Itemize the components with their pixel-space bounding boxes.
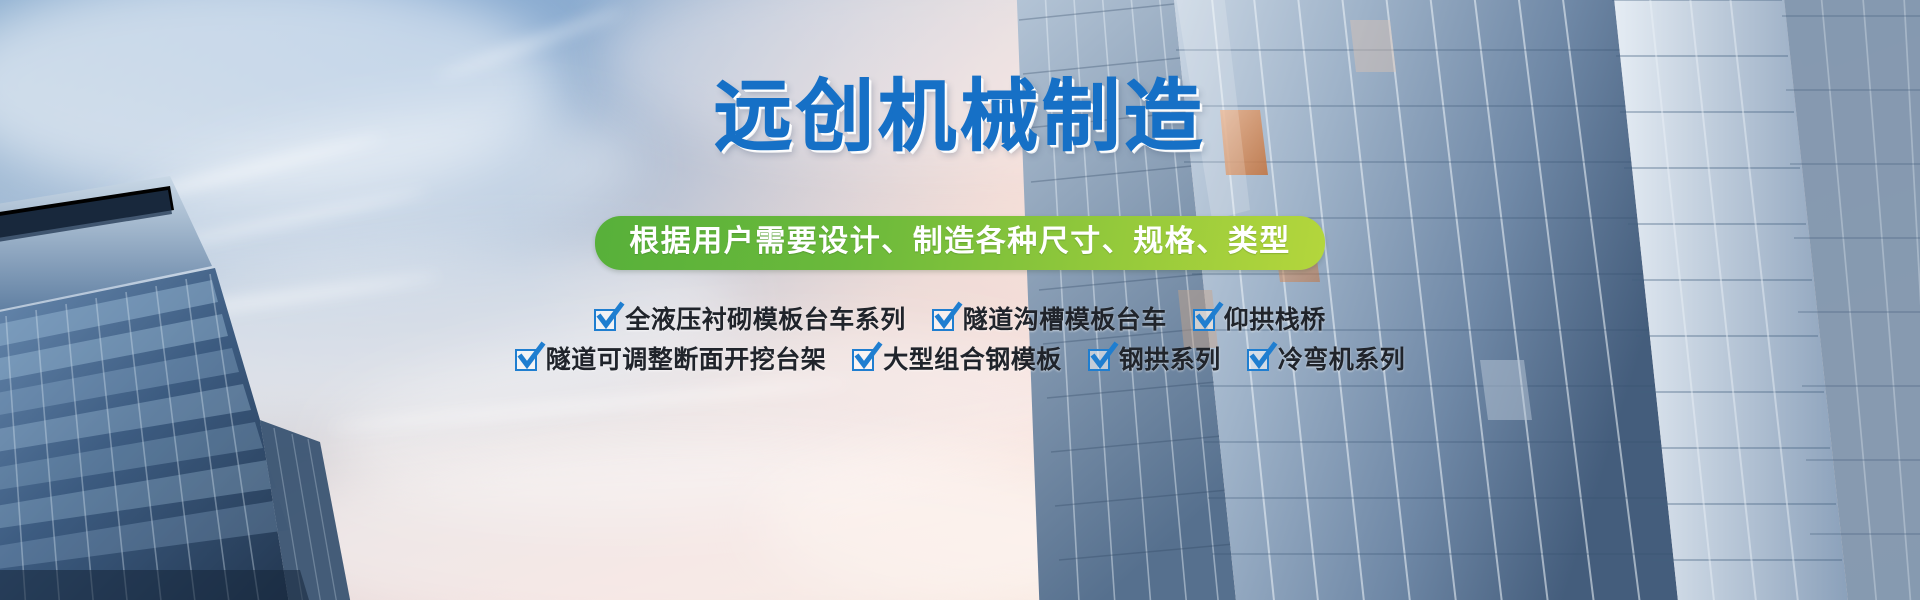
checkbox-checked-icon[interactable] <box>1193 309 1215 331</box>
feature-list: 全液压衬砌模板台车系列 隧道沟槽模板台车 仰拱栈桥 隧道可调整断面开挖台 <box>0 306 1920 386</box>
feature-label: 全液压衬砌模板台车系列 <box>625 306 906 334</box>
feature-label: 隧道沟槽模板台车 <box>963 306 1167 334</box>
feature-item[interactable]: 全液压衬砌模板台车系列 <box>594 306 906 334</box>
checkbox-checked-icon[interactable] <box>932 309 954 331</box>
feature-label: 仰拱栈桥 <box>1224 306 1326 334</box>
hero-banner: 远创机械制造 根据用户需要设计、制造各种尺寸、规格、类型 全液压衬砌模板台车系列… <box>0 0 1920 600</box>
feature-item[interactable]: 隧道沟槽模板台车 <box>932 306 1167 334</box>
checkbox-checked-icon[interactable] <box>594 309 616 331</box>
cloud-decoration <box>760 420 1660 600</box>
feature-item[interactable]: 隧道可调整断面开挖台架 <box>515 346 827 374</box>
cloud-decoration <box>250 440 1150 600</box>
cloud-streak <box>435 6 626 82</box>
feature-label: 大型组合钢模板 <box>883 346 1062 374</box>
feature-row: 全液压衬砌模板台车系列 隧道沟槽模板台车 仰拱栈桥 <box>0 306 1920 334</box>
feature-label: 钢拱系列 <box>1119 346 1221 374</box>
checkbox-checked-icon[interactable] <box>515 349 537 371</box>
checkbox-checked-icon[interactable] <box>852 349 874 371</box>
feature-item[interactable]: 钢拱系列 <box>1088 346 1221 374</box>
feature-item[interactable]: 冷弯机系列 <box>1247 346 1406 374</box>
page-title: 远创机械制造 <box>0 76 1920 158</box>
checkbox-checked-icon[interactable] <box>1247 349 1269 371</box>
feature-label: 冷弯机系列 <box>1278 346 1406 374</box>
checkbox-checked-icon[interactable] <box>1088 349 1110 371</box>
feature-label: 隧道可调整断面开挖台架 <box>546 346 827 374</box>
tagline-pill: 根据用户需要设计、制造各种尺寸、规格、类型 <box>595 216 1325 270</box>
feature-item[interactable]: 仰拱栈桥 <box>1193 306 1326 334</box>
feature-row: 隧道可调整断面开挖台架 大型组合钢模板 钢拱系列 冷弯机系列 <box>0 346 1920 374</box>
feature-item[interactable]: 大型组合钢模板 <box>852 346 1062 374</box>
tagline-container: 根据用户需要设计、制造各种尺寸、规格、类型 <box>0 216 1920 270</box>
